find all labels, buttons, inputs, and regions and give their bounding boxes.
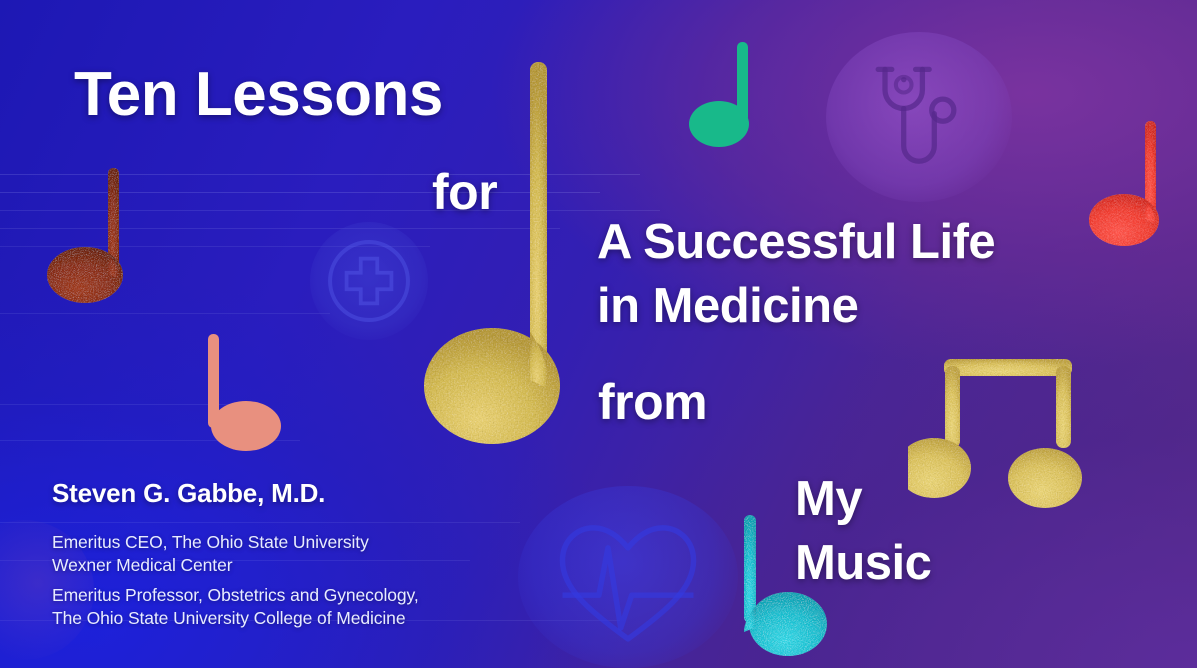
heart-pulse-icon	[518, 486, 738, 668]
presentation-slide: Ten Lessons for A Successful Life in Med…	[0, 0, 1197, 668]
gold-beamed-eighth-notes	[908, 356, 1104, 530]
speaker-name: Steven G. Gabbe, M.D.	[52, 478, 325, 509]
title-line-from: from	[598, 376, 707, 429]
dark-red-quarter-note	[47, 165, 145, 305]
staff-line	[0, 313, 330, 314]
green-quarter-note	[689, 38, 769, 152]
stethoscope-watermark	[826, 32, 1012, 202]
red-quarter-note	[1089, 118, 1179, 250]
music-note-icon	[689, 38, 769, 152]
gold-quarter-note-large	[424, 56, 584, 452]
medical-cross-watermark	[310, 222, 428, 340]
title-line-my-music: My Music	[795, 468, 931, 595]
heart-ekg-watermark	[518, 486, 738, 668]
speaker-credential-ceo: Emeritus CEO, The Ohio State University …	[52, 531, 369, 578]
music-note-icon	[201, 331, 283, 453]
speaker-credential-professor: Emeritus Professor, Obstetrics and Gynec…	[52, 584, 419, 631]
stethoscope-icon	[826, 32, 1012, 202]
pink-quarter-note	[201, 331, 283, 453]
double-music-note-icon	[908, 356, 1104, 530]
medical-cross-icon	[310, 222, 428, 340]
title-line-ten-lessons: Ten Lessons	[74, 62, 443, 127]
music-note-icon	[47, 165, 145, 305]
staff-line	[0, 522, 520, 523]
title-line-for: for	[432, 166, 497, 219]
title-line-a-successful-life-in-medicine: A Successful Life in Medicine	[597, 211, 995, 338]
music-note-icon	[1089, 118, 1179, 250]
music-note-icon	[424, 56, 584, 452]
